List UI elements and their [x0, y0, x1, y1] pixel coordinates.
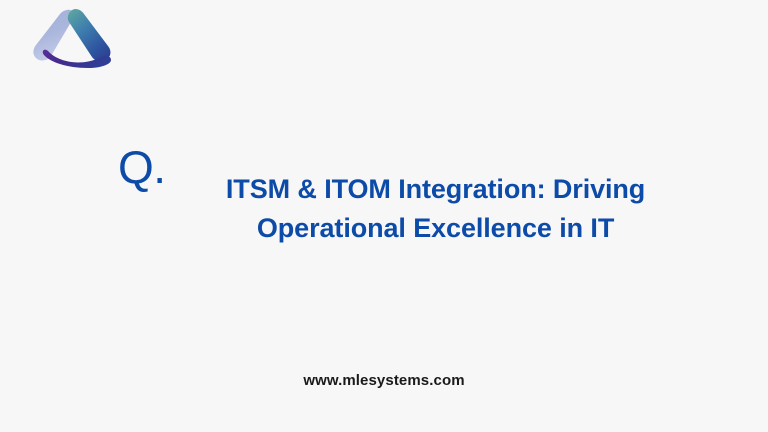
question-line-2: Operational Excellence in IT	[257, 213, 614, 243]
question-marker: Q.	[118, 144, 166, 190]
logo-right-stroke	[68, 9, 111, 61]
mle-systems-logo	[26, 6, 118, 68]
footer-website-url: www.mlesystems.com	[0, 372, 768, 389]
question-block: Q. ITSM & ITOM Integration: Driving Oper…	[0, 142, 768, 248]
question-headline: ITSM & ITOM Integration: Driving Operati…	[176, 170, 696, 248]
question-line-1: ITSM & ITOM Integration: Driving	[226, 174, 645, 204]
slide-canvas: Q. ITSM & ITOM Integration: Driving Oper…	[0, 0, 768, 432]
